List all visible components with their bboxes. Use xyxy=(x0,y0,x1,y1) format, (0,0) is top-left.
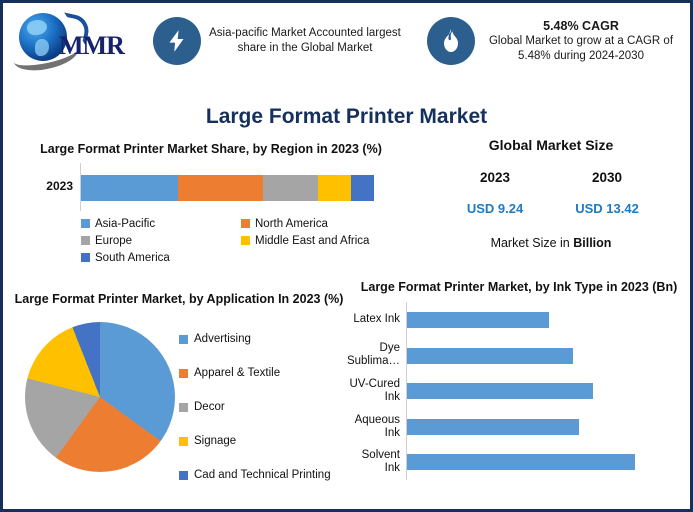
legend-label: Asia-Pacific xyxy=(95,218,155,230)
cagr-description: Global Market to grow at a CAGR of 5.48%… xyxy=(489,35,673,62)
legend-label: Middle East and Africa xyxy=(255,235,369,247)
market-size-year-end: 2030 xyxy=(551,170,663,185)
ink-bar xyxy=(407,383,593,399)
legend-swatch-icon xyxy=(241,219,250,228)
ink-bar xyxy=(407,348,573,364)
global-market-size-panel: Global Market Size 2023 2030 USD 9.24 US… xyxy=(415,133,687,281)
legend-item-cad-technical-printing: Cad and Technical Printing xyxy=(179,458,347,492)
legend-label: Cad and Technical Printing xyxy=(194,469,331,481)
ink-category-label: UV-Cured Ink xyxy=(347,373,400,409)
legend-label: Advertising xyxy=(194,333,251,345)
asia-pacific-badge: Asia-pacific Market Accounted largest sh… xyxy=(153,17,403,65)
legend-swatch-icon xyxy=(81,253,90,262)
ink-row-aqueous: Aqueous Ink xyxy=(347,409,691,445)
region-stacked-bar xyxy=(81,175,374,201)
ink-row-solvent: Solvent Ink xyxy=(347,444,691,480)
ink-row-dye-sublimation: Dye Sublima… xyxy=(347,338,691,374)
legend-item-mea: Middle East and Africa xyxy=(241,232,401,249)
legend-label: North America xyxy=(255,218,328,230)
legend-item-advertising: Advertising xyxy=(179,322,347,356)
legend-item-europe: Europe xyxy=(81,232,241,249)
infographic-root: MMR Asia-pacific Market Accounted larges… xyxy=(0,0,693,512)
ink-row-latex: Latex Ink xyxy=(347,302,691,338)
region-segment-europe xyxy=(263,175,319,201)
cagr-headline: 5.48% CAGR xyxy=(481,19,681,34)
region-share-chart: Large Format Printer Market Share, by Re… xyxy=(11,141,411,283)
cagr-badge: 5.48% CAGR Global Market to grow at a CA… xyxy=(427,17,685,65)
market-size-footer: Market Size in Billion xyxy=(415,236,687,250)
legend-swatch-icon xyxy=(179,403,188,412)
market-size-years: 2023 2030 xyxy=(415,170,687,185)
legend-swatch-icon xyxy=(179,437,188,446)
legend-item-apparel-textile: Apparel & Textile xyxy=(179,356,347,390)
pie-chart-graphic xyxy=(25,322,175,472)
legend-swatch-icon xyxy=(81,219,90,228)
legend-swatch-icon xyxy=(179,471,188,480)
region-segment-mea xyxy=(318,175,350,201)
legend-swatch-icon xyxy=(179,335,188,344)
legend-label: Signage xyxy=(194,435,236,447)
logo-text: MMR xyxy=(59,31,124,61)
legend-swatch-icon xyxy=(241,236,250,245)
legend-item-north-america: North America xyxy=(241,215,401,232)
legend-item-decor: Decor xyxy=(179,390,347,424)
region-segment-north-america xyxy=(178,175,263,201)
legend-label: Europe xyxy=(95,235,132,247)
legend-swatch-icon xyxy=(81,236,90,245)
market-size-year-start: 2023 xyxy=(439,170,551,185)
market-size-values: USD 9.24 USD 13.42 xyxy=(415,201,687,216)
pie-legend: Advertising Apparel & Textile Decor Sign… xyxy=(179,322,347,492)
legend-swatch-icon xyxy=(179,369,188,378)
pie-chart-title: Large Format Printer Market, by Applicat… xyxy=(11,291,347,308)
ink-category-label: Solvent Ink xyxy=(347,444,400,480)
region-segment-south-america xyxy=(351,175,374,201)
market-size-footer-prefix: Market Size in xyxy=(491,236,574,250)
page-title: Large Format Printer Market xyxy=(3,105,690,129)
region-segment-asia-pacific xyxy=(81,175,178,201)
legend-item-asia-pacific: Asia-Pacific xyxy=(81,215,241,232)
ink-category-label: Aqueous Ink xyxy=(347,409,400,445)
ink-bar xyxy=(407,454,635,470)
pie-plot-area: Advertising Apparel & Textile Decor Sign… xyxy=(11,314,347,492)
market-size-value-end: USD 13.42 xyxy=(551,201,663,216)
ink-chart-title: Large Format Printer Market, by Ink Type… xyxy=(347,279,691,296)
legend-label: Decor xyxy=(194,401,225,413)
lightning-bolt-icon xyxy=(153,17,201,65)
market-size-value-start: USD 9.24 xyxy=(439,201,551,216)
mmr-logo: MMR xyxy=(13,9,133,67)
market-size-heading: Global Market Size xyxy=(415,137,687,153)
region-plot-area: 2023 xyxy=(11,163,411,211)
ink-row-uv-cured: UV-Cured Ink xyxy=(347,373,691,409)
legend-item-signage: Signage xyxy=(179,424,347,458)
ink-type-chart: Large Format Printer Market, by Ink Type… xyxy=(347,279,691,511)
region-legend: Asia-Pacific North America Europe Middle… xyxy=(81,215,401,266)
cagr-badge-text: 5.48% CAGR Global Market to grow at a CA… xyxy=(481,19,681,64)
flame-icon xyxy=(427,17,475,65)
ink-plot-area: Latex Ink Dye Sublima… UV-Cured Ink Aque… xyxy=(347,302,691,480)
header: MMR Asia-pacific Market Accounted larges… xyxy=(3,3,690,91)
market-size-footer-unit: Billion xyxy=(573,236,611,250)
legend-item-south-america: South America xyxy=(81,249,241,266)
application-share-chart: Large Format Printer Market, by Applicat… xyxy=(11,291,347,509)
asia-pacific-badge-text: Asia-pacific Market Accounted largest sh… xyxy=(209,26,401,56)
ink-category-label: Dye Sublima… xyxy=(347,338,400,374)
region-chart-title: Large Format Printer Market Share, by Re… xyxy=(11,141,411,158)
region-category-label: 2023 xyxy=(11,179,73,193)
ink-bar xyxy=(407,419,579,435)
ink-bar xyxy=(407,312,549,328)
ink-category-label: Latex Ink xyxy=(347,302,400,338)
legend-label: South America xyxy=(95,252,170,264)
legend-label: Apparel & Textile xyxy=(194,367,280,379)
